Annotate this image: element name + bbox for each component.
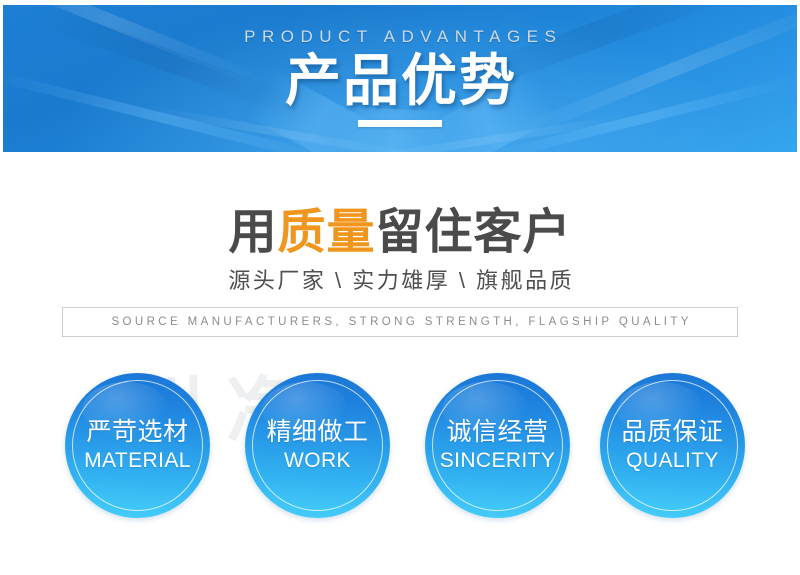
english-tagline-box: SOURCE MANUFACTURERS, STRONG STRENGTH, F… (62, 307, 738, 337)
feature-label-cn: 严苛选材 (86, 418, 188, 447)
feature-label-en: SINCERITY (440, 449, 556, 473)
headline-accent: 质量 (277, 206, 375, 259)
feature-circle-work[interactable]: 精细做工 WORK (245, 373, 390, 518)
feature-circle-quality[interactable]: 品质保证 QUALITY (600, 373, 745, 518)
feature-label-en: QUALITY (626, 449, 719, 473)
banner-eyebrow: PRODUCT ADVANTAGES (238, 27, 563, 47)
feature-circle-material[interactable]: 严苛选材 MATERIAL (65, 373, 210, 518)
feature-circle-row: 严苛选材 MATERIAL 精细做工 WORK 诚信经营 SINCERITY 品… (0, 373, 800, 518)
page-headline: 用质量留住客户 (0, 192, 800, 262)
headline-part-2: 留住客户 (376, 206, 572, 259)
headline-part-1: 用 (228, 206, 277, 259)
feature-circle-sincerity[interactable]: 诚信经营 SINCERITY (425, 373, 570, 518)
feature-label-cn: 精细做工 (266, 418, 368, 447)
banner-underline-rule (358, 120, 442, 127)
feature-label-en: MATERIAL (84, 449, 191, 473)
banner-title: 产品优势 (283, 51, 517, 111)
product-advantages-banner: PRODUCT ADVANTAGES 产品优势 (3, 5, 797, 152)
feature-label-cn: 品质保证 (621, 418, 723, 447)
feature-label-cn: 诚信经营 (446, 418, 548, 447)
english-tagline-text: SOURCE MANUFACTURERS, STRONG STRENGTH, F… (108, 316, 692, 328)
feature-label-en: WORK (284, 449, 351, 473)
page-subheading: 源头厂家 \ 实力雄厚 \ 旗舰品质 (0, 263, 800, 295)
